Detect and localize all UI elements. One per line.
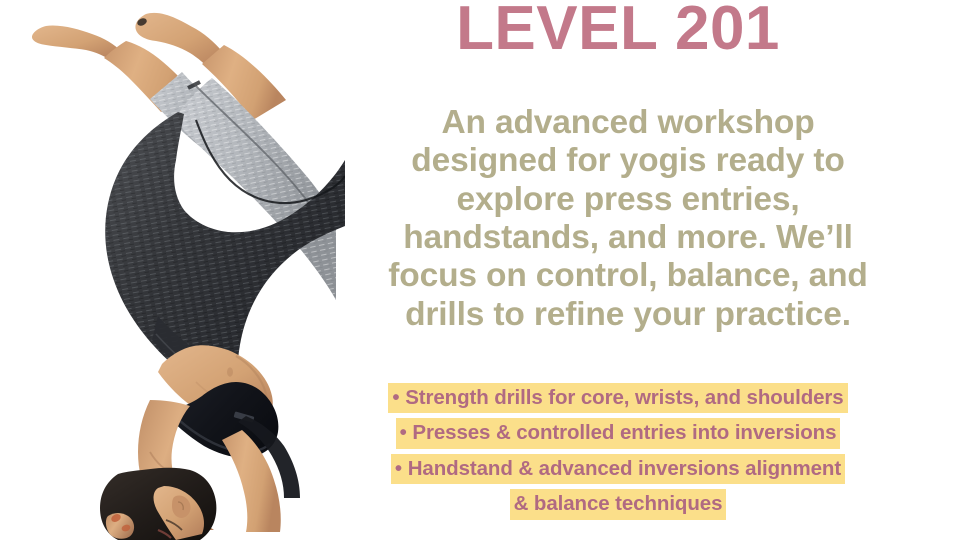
bullet-item-1-label: Strength drills for core, wrists, and sh…	[405, 386, 843, 409]
bullet-item-1-text: • Strength drills for core, wrists, and …	[388, 383, 847, 413]
description-line-5: focus on control, balance, and	[324, 257, 932, 295]
bullet-marker-icon: •	[395, 457, 402, 480]
bullet-marker-icon: •	[392, 386, 399, 409]
bullet-item-3-label: Handstand & advanced inversions alignmen…	[408, 457, 841, 480]
list-item: • Presses & controlled entries into inve…	[288, 418, 948, 448]
list-item: • Handstand & advanced inversions alignm…	[288, 454, 948, 484]
description-line-3: explore press entries,	[324, 181, 932, 219]
workshop-description: An advanced workshop designed for yogis …	[324, 104, 932, 334]
bullet-marker-icon: •	[400, 421, 407, 444]
description-line-6: drills to refine your practice.	[324, 296, 932, 334]
bullet-item-2-text: • Presses & controlled entries into inve…	[396, 418, 841, 448]
description-line-1: An advanced workshop	[324, 104, 932, 142]
bullet-item-4-label: & balance techniques	[514, 492, 723, 515]
description-line-2: designed for yogis ready to	[324, 142, 932, 180]
bullet-item-3-text: • Handstand & advanced inversions alignm…	[391, 454, 845, 484]
bullet-item-2-label: Presses & controlled entries into invers…	[412, 421, 836, 444]
bullet-item-4-text: & balance techniques	[510, 489, 727, 519]
text-content-column: LEVEL 201 An advanced workshop designed …	[288, 0, 960, 540]
description-line-4: handstands, and more. We’ll	[324, 219, 932, 257]
page-title: LEVEL 201	[288, 0, 948, 63]
list-item: & balance techniques	[288, 489, 948, 519]
list-item: • Strength drills for core, wrists, and …	[288, 383, 948, 413]
workshop-bullet-list: • Strength drills for core, wrists, and …	[288, 383, 948, 520]
head	[100, 468, 216, 540]
slide-canvas: LEVEL 201 An advanced workshop designed …	[0, 0, 960, 540]
